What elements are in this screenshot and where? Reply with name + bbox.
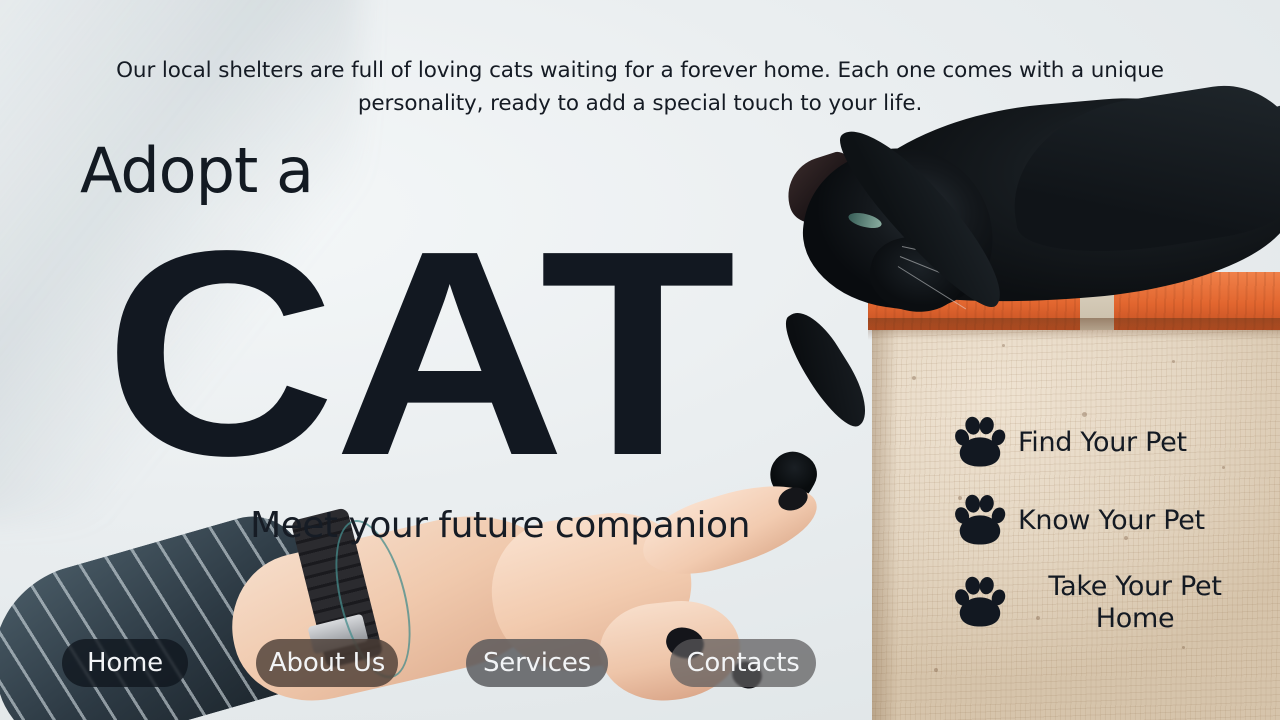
nav-item-about-us[interactable]: About Us bbox=[256, 639, 398, 687]
nav-item-home[interactable]: Home bbox=[62, 639, 188, 687]
main-navigation: Home About Us Services Contacts bbox=[62, 639, 816, 687]
feature-label: Take Your Pet Home bbox=[1018, 571, 1252, 635]
hero-intro-paragraph: Our local shelters are full of loving ca… bbox=[0, 54, 1280, 120]
hero-intro-text: Our local shelters are full of loving ca… bbox=[98, 54, 1183, 120]
paw-print-icon bbox=[952, 575, 1008, 631]
feature-item[interactable]: Take Your Pet Home bbox=[952, 571, 1252, 635]
paw-print-icon bbox=[952, 493, 1008, 549]
feature-label: Know Your Pet bbox=[1018, 505, 1205, 537]
hero-tagline: Meet your future companion bbox=[0, 505, 1000, 546]
hero-banner: Adopt a CAT Our local shelters are full … bbox=[0, 0, 1280, 720]
feature-list: Find Your Pet Know Your Pet Take Your Pe… bbox=[952, 415, 1252, 635]
paw-print-icon bbox=[952, 415, 1008, 471]
hero-headline: CAT bbox=[104, 208, 734, 498]
feature-item[interactable]: Find Your Pet bbox=[952, 415, 1252, 471]
feature-label: Find Your Pet bbox=[1018, 427, 1187, 459]
nav-item-services[interactable]: Services bbox=[466, 639, 608, 687]
feature-item[interactable]: Know Your Pet bbox=[952, 493, 1252, 549]
nav-item-contacts[interactable]: Contacts bbox=[670, 639, 816, 687]
black-cat-image bbox=[760, 96, 1280, 396]
